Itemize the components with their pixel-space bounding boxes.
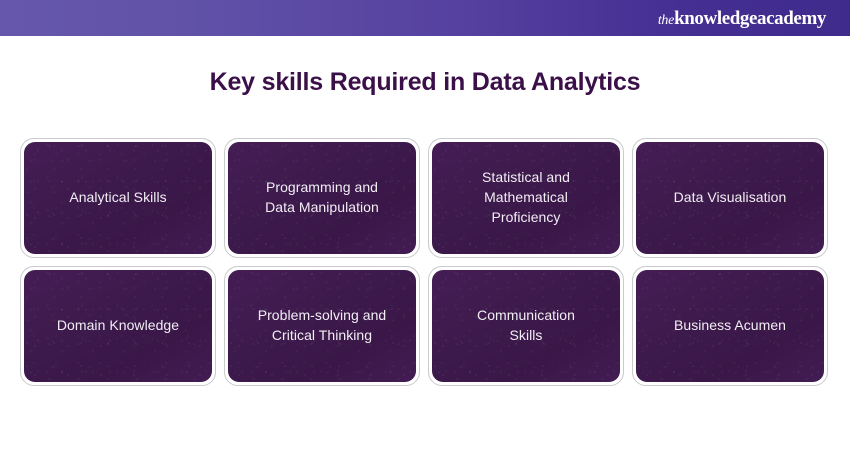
skill-card-label: Domain Knowledge xyxy=(47,316,189,336)
skill-card-surface: Communication Skills xyxy=(432,270,620,382)
skill-card-label: Programming and Data Manipulation xyxy=(255,178,389,218)
skill-card-label: Analytical Skills xyxy=(59,188,176,208)
skill-card-domain-knowledge: Domain Knowledge xyxy=(20,266,216,386)
skills-card-grid: Analytical Skills Programming and Data M… xyxy=(20,138,830,386)
brand-logo: theknowledgeacademy xyxy=(658,9,826,28)
skill-card-surface: Problem-solving and Critical Thinking xyxy=(228,270,416,382)
brand-logo-prefix: the xyxy=(658,14,674,28)
skill-card-programming-and-data-manipulation: Programming and Data Manipulation xyxy=(224,138,420,258)
skill-card-surface: Statistical and Mathematical Proficiency xyxy=(432,142,620,254)
skill-card-surface: Analytical Skills xyxy=(24,142,212,254)
skill-card-business-acumen: Business Acumen xyxy=(632,266,828,386)
skill-card-label: Data Visualisation xyxy=(664,188,797,208)
skill-card-statistical-and-mathematical-proficiency: Statistical and Mathematical Proficiency xyxy=(428,138,624,258)
skill-card-label: Problem-solving and Critical Thinking xyxy=(248,306,397,346)
header-band: theknowledgeacademy xyxy=(0,0,850,36)
infographic-page: theknowledgeacademy Key skills Required … xyxy=(0,0,850,450)
skill-card-label: Communication Skills xyxy=(467,306,585,346)
page-title: Key skills Required in Data Analytics xyxy=(0,68,850,97)
skill-card-label: Statistical and Mathematical Proficiency xyxy=(472,168,580,228)
brand-logo-name: knowledgeacademy xyxy=(674,9,826,28)
skill-card-analytical-skills: Analytical Skills xyxy=(20,138,216,258)
skill-card-communication-skills: Communication Skills xyxy=(428,266,624,386)
skill-card-label: Business Acumen xyxy=(664,316,796,336)
skill-card-surface: Programming and Data Manipulation xyxy=(228,142,416,254)
skill-card-surface: Data Visualisation xyxy=(636,142,824,254)
skill-card-data-visualisation: Data Visualisation xyxy=(632,138,828,258)
skill-card-surface: Business Acumen xyxy=(636,270,824,382)
skill-card-surface: Domain Knowledge xyxy=(24,270,212,382)
skill-card-problem-solving-and-critical-thinking: Problem-solving and Critical Thinking xyxy=(224,266,420,386)
